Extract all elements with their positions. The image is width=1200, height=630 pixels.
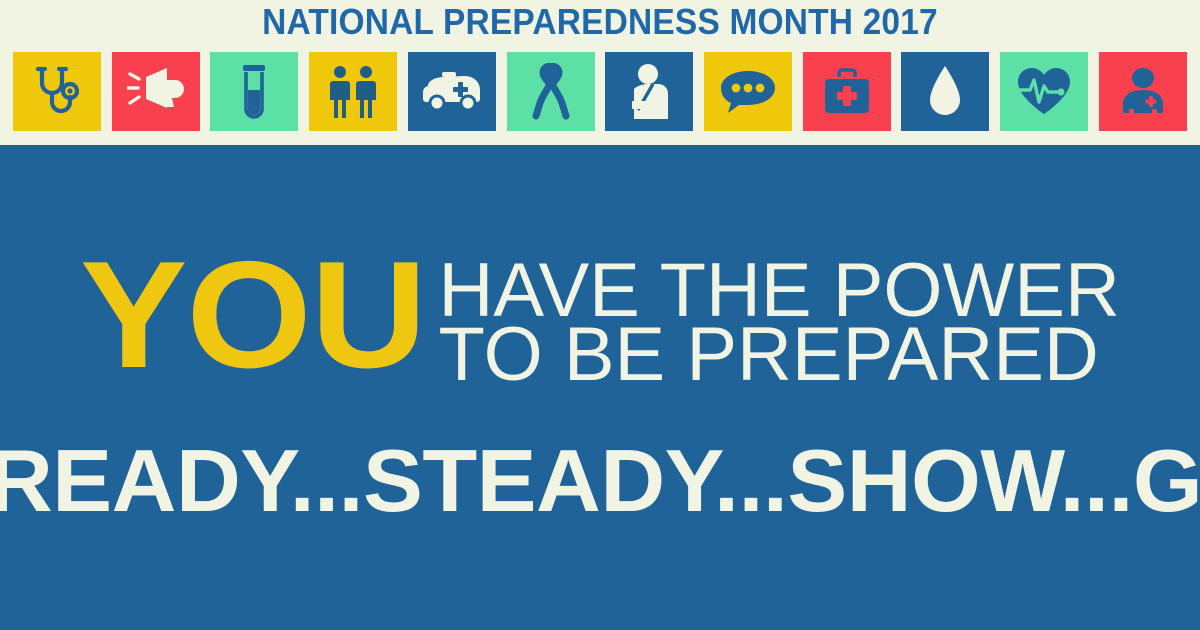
headline-body: HAVE THE POWER TO BE PREPARED (439, 255, 1120, 387)
ambulance-icon (420, 70, 484, 114)
medical-worker-icon (1115, 67, 1171, 117)
icon-tile-speech-bubble (704, 52, 792, 131)
stethoscope-icon (31, 64, 83, 120)
icon-tile-two-people (309, 52, 397, 131)
header-band: NATIONAL PREPAREDNESS MONTH 2017 (0, 0, 1200, 145)
arm-sling-patient-icon (624, 63, 674, 121)
tagline: READY...STEADY...SHOW...GO! (0, 435, 1200, 527)
headline-line-2: TO BE PREPARED (439, 323, 1120, 387)
icon-tile-stethoscope (13, 52, 101, 131)
icon-tile-megaphone (112, 52, 200, 131)
headline: YOU HAVE THE POWER TO BE PREPARED (0, 255, 1200, 387)
icon-tile-medical-worker (1099, 52, 1187, 131)
awareness-ribbon-icon (530, 63, 572, 121)
megaphone-icon (127, 66, 185, 118)
speech-bubble-icon (719, 69, 777, 115)
main-area: YOU HAVE THE POWER TO BE PREPARED READY.… (0, 145, 1200, 630)
icon-tile-water-drop (901, 52, 989, 131)
water-drop-icon (926, 64, 964, 120)
icon-tile-heart-pulse (1000, 52, 1088, 131)
heart-pulse-icon (1014, 66, 1074, 118)
page-title: NATIONAL PREPAREDNESS MONTH 2017 (42, 1, 1158, 43)
icon-tile-awareness-ribbon (507, 52, 595, 131)
icon-tile-ambulance (408, 52, 496, 131)
icon-tile-test-tube (210, 52, 298, 131)
icon-tile-first-aid-kit (803, 52, 891, 131)
first-aid-kit-icon (821, 66, 873, 118)
preparedness-poster: NATIONAL PREPAREDNESS MONTH 2017 (0, 0, 1200, 630)
icon-tile-arm-sling-patient (605, 52, 693, 131)
headline-emphasis: YOU (80, 255, 426, 375)
test-tube-icon (237, 63, 271, 121)
icon-strip (13, 52, 1187, 131)
two-people-icon (327, 64, 379, 120)
